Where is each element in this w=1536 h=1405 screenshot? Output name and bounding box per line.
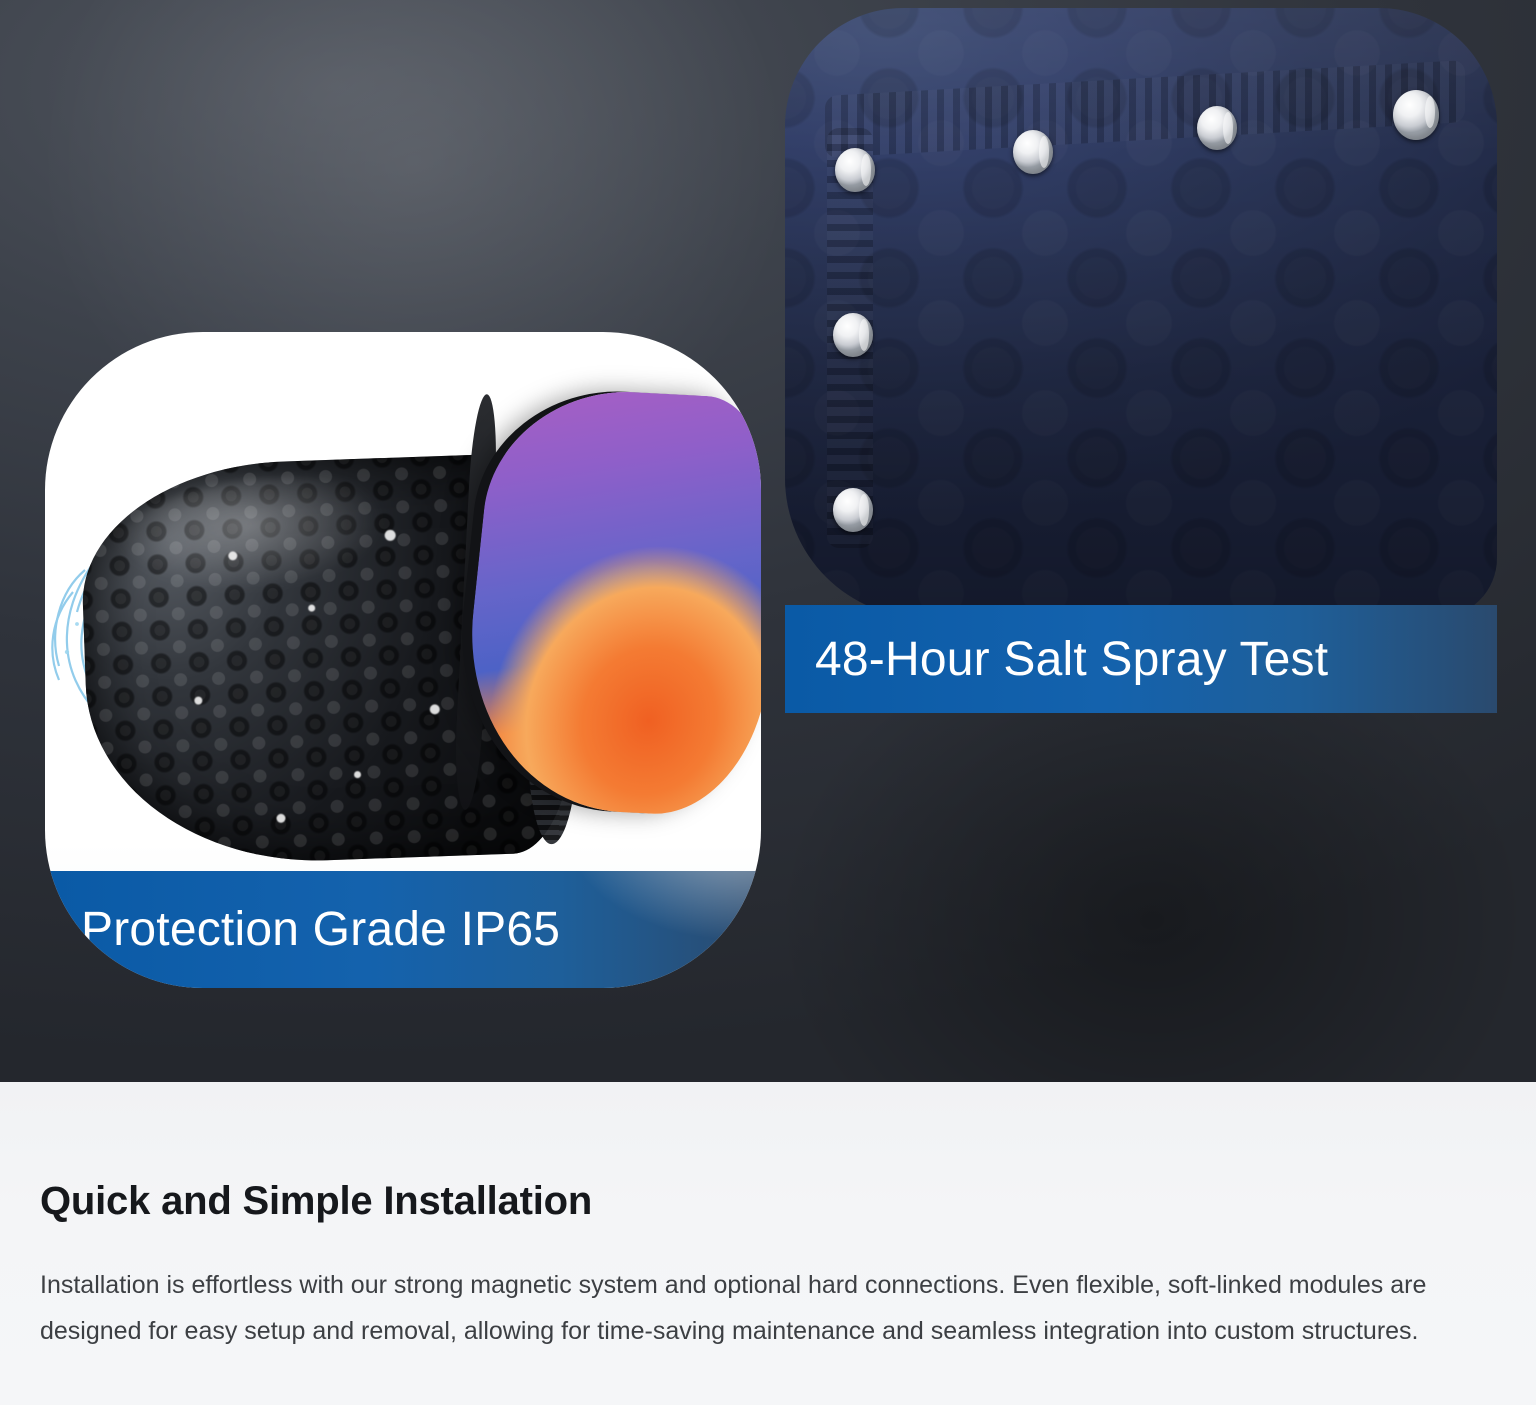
salt-spray-test-card[interactable]: 48-Hour Salt Spray Test: [785, 8, 1497, 713]
water-droplet: [194, 696, 202, 704]
hero-dark-band: Protection Grade IP65 48-Hour Salt Spr: [0, 0, 1536, 1082]
water-droplet: [384, 530, 395, 541]
protection-grade-banner[interactable]: Protection Grade IP65: [45, 871, 761, 988]
water-droplet: [353, 771, 360, 778]
rivet-icon: [833, 313, 873, 357]
installation-section: Quick and Simple Installation Installati…: [0, 1082, 1536, 1405]
rivet-icon: [1013, 130, 1053, 174]
rivet-icon: [1393, 90, 1439, 140]
salt-spray-test-banner[interactable]: 48-Hour Salt Spray Test: [785, 605, 1497, 713]
salt-spray-test-label: 48-Hour Salt Spray Test: [815, 632, 1328, 687]
section-body-text: Installation is effortless with our stro…: [40, 1262, 1472, 1354]
rivet-icon: [835, 148, 875, 192]
rivet-icon: [833, 488, 873, 532]
protection-grade-label: Protection Grade IP65: [81, 902, 560, 957]
navy-honeycomb-back-panel-icon: [785, 8, 1497, 618]
protection-grade-card[interactable]: Protection Grade IP65: [45, 332, 761, 988]
product-feature-page: Protection Grade IP65 48-Hour Salt Spr: [0, 0, 1536, 1405]
rivet-icon: [1197, 106, 1237, 150]
page-title: Quick and Simple Installation: [40, 1179, 592, 1224]
